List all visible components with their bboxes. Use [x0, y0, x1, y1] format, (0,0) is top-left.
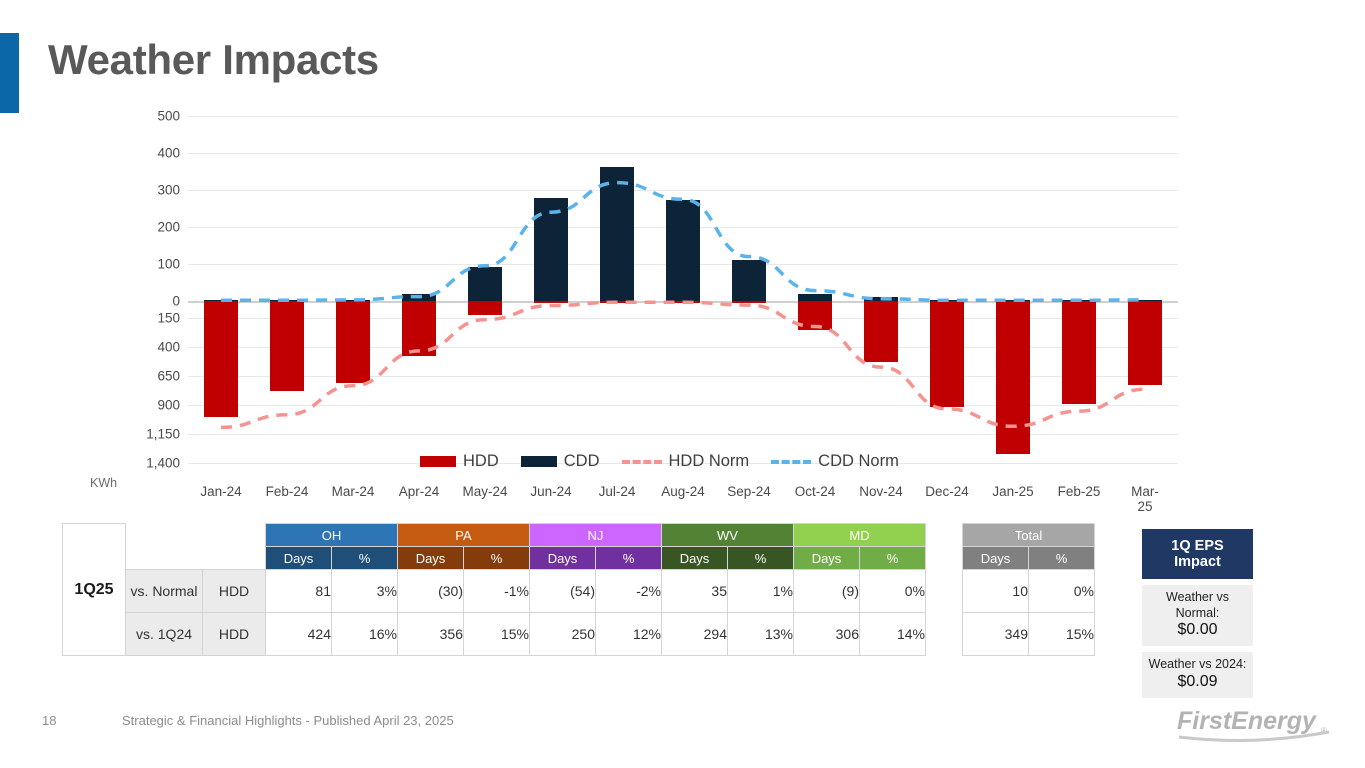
legend-label: CDD [564, 452, 600, 471]
table-cell-value: -2% [596, 570, 662, 613]
table-cell-value: 3% [332, 570, 398, 613]
legend-item-hdd-norm[interactable]: HDD Norm [622, 452, 750, 471]
slide: Weather Impacts 500400300200100015040065… [0, 0, 1365, 768]
legend-label: HDD [463, 452, 499, 471]
total-cell-value: 15% [1029, 613, 1095, 656]
table-cell-value: 16% [332, 613, 398, 656]
legend-item-hdd[interactable]: HDD [420, 452, 499, 471]
table-cell-value: 13% [728, 613, 794, 656]
y-axis-tick-label: 1,400 [90, 456, 180, 471]
table-subheader-pct: % [332, 547, 398, 570]
eps-item-normal: Weather vs Normal: $0.00 [1142, 585, 1253, 646]
total-cell-value: 0% [1029, 570, 1095, 613]
legend-label: HDD Norm [669, 452, 750, 471]
table-metric-label: HDD [203, 570, 266, 613]
y-axis-tick-label: 500 [90, 109, 180, 124]
table-subheader-pct: % [596, 547, 662, 570]
table-cell-value: 294 [662, 613, 728, 656]
chart-x-axis-labels: Jan-24Feb-24Mar-24Apr-24May-24Jun-24Jul-… [188, 484, 1178, 506]
x-axis-tick-label: Oct-24 [795, 484, 836, 499]
eps-label-normal: Weather vs Normal: [1145, 590, 1250, 621]
table-header-row-sub: Days%Days%Days%Days%Days% [63, 547, 926, 570]
x-axis-tick-label: Mar-25 [1129, 484, 1162, 514]
total-header-row: Total [963, 524, 1095, 547]
legend-swatch-icon [420, 456, 456, 467]
legend-item-cdd-norm[interactable]: CDD Norm [771, 452, 899, 471]
chart-legend: HDDCDDHDD NormCDD Norm [420, 452, 899, 471]
table-cell-value: 356 [398, 613, 464, 656]
y-axis-tick-label: 0 [90, 294, 180, 309]
y-axis-tick-label: 1,150 [90, 427, 180, 442]
table-metric-label: HDD [203, 613, 266, 656]
table-subheader-days: Days [266, 547, 332, 570]
table-subheader-days: Days [398, 547, 464, 570]
x-axis-tick-label: Dec-24 [925, 484, 969, 499]
total-group-header: Total [963, 524, 1095, 547]
eps-item-2024: Weather vs 2024: $0.09 [1142, 652, 1253, 698]
weather-data-table: 1Q25OHPANJWVMDDays%Days%Days%Days%Days%v… [62, 523, 926, 656]
legend-swatch-icon [622, 460, 662, 464]
table-cell-value: 306 [794, 613, 860, 656]
table-group-header-md: MD [794, 524, 926, 547]
eps-impact-box: 1Q EPS Impact Weather vs Normal: $0.00 W… [1142, 529, 1253, 698]
table-quarter-label: 1Q25 [63, 524, 126, 656]
table-subheader-pct: % [464, 547, 530, 570]
table-subheader-days: Days [662, 547, 728, 570]
table-group-header-pa: PA [398, 524, 530, 547]
x-axis-tick-label: Jan-24 [200, 484, 241, 499]
table-subheader-pct: % [860, 547, 926, 570]
chart-norm-lines [188, 108, 1178, 478]
x-axis-tick-label: Jun-24 [530, 484, 571, 499]
x-axis-tick-label: May-24 [462, 484, 507, 499]
x-axis-tick-label: Aug-24 [661, 484, 705, 499]
y-axis-tick-label: 400 [90, 146, 180, 161]
x-axis-tick-label: Apr-24 [399, 484, 440, 499]
chart-y-axis: 50040030020010001504006509001,1501,400 [90, 108, 180, 478]
y-axis-tick-label: 100 [90, 257, 180, 272]
y-axis-tick-label: 200 [90, 220, 180, 235]
y-axis-tick-label: 900 [90, 398, 180, 413]
total-cell-value: 10 [963, 570, 1029, 613]
table-group-header-nj: NJ [530, 524, 662, 547]
eps-value-normal: $0.00 [1145, 621, 1250, 639]
table-cell-value: 35 [662, 570, 728, 613]
x-axis-tick-label: Mar-24 [332, 484, 375, 499]
x-axis-tick-label: Jul-24 [599, 484, 636, 499]
table-group-header-oh: OH [266, 524, 398, 547]
x-axis-tick-label: Sep-24 [727, 484, 771, 499]
table-cell-value: 0% [860, 570, 926, 613]
total-cell-value: 349 [963, 613, 1029, 656]
table-compare-label: vs. Normal [126, 570, 203, 613]
table-cell-value: 1% [728, 570, 794, 613]
table-spacer-cell [203, 524, 266, 547]
table-cell-value: 14% [860, 613, 926, 656]
weather-total-table: TotalDays%100%34915% [962, 523, 1095, 656]
table-cell-value: 12% [596, 613, 662, 656]
chart-plot-area [188, 108, 1178, 478]
x-axis-tick-label: Feb-25 [1058, 484, 1101, 499]
x-axis-tick-label: Feb-24 [266, 484, 309, 499]
eps-label-2024: Weather vs 2024: [1145, 657, 1250, 673]
table-cell-value: 15% [464, 613, 530, 656]
x-axis-tick-label: Nov-24 [859, 484, 903, 499]
title-accent-bar [0, 33, 19, 113]
total-row: 100% [963, 570, 1095, 613]
legend-swatch-icon [771, 460, 811, 464]
y-axis-unit-label: KWh [90, 476, 117, 490]
table-row: vs. 1Q24HDD42416%35615%25012%29413%30614… [63, 613, 926, 656]
table-cell-value: (30) [398, 570, 464, 613]
eps-value-2024: $0.09 [1145, 673, 1250, 691]
total-subheader-pct: % [1029, 547, 1095, 570]
table-subheader-pct: % [728, 547, 794, 570]
legend-swatch-icon [521, 456, 557, 467]
eps-header: 1Q EPS Impact [1142, 529, 1253, 579]
x-axis-tick-label: Jan-25 [992, 484, 1033, 499]
total-subheader-days: Days [963, 547, 1029, 570]
table-cell-value: 250 [530, 613, 596, 656]
table-row: vs. NormalHDD813%(30)-1%(54)-2%351%(9)0% [63, 570, 926, 613]
table-cell-value: -1% [464, 570, 530, 613]
cdd-norm-line [221, 183, 1145, 301]
hdd-norm-line [221, 302, 1145, 427]
table-subheader-days: Days [530, 547, 596, 570]
firstenergy-logo: FirstEnergy ® [1175, 702, 1335, 746]
table-spacer-cell [126, 547, 203, 570]
footer-text: Strategic & Financial Highlights - Publi… [122, 713, 454, 728]
page-number: 18 [42, 713, 56, 728]
legend-item-cdd[interactable]: CDD [521, 452, 600, 471]
legend-label: CDD Norm [818, 452, 899, 471]
table-spacer-cell [126, 524, 203, 547]
y-axis-tick-label: 400 [90, 340, 180, 355]
total-subheader-row: Days% [963, 547, 1095, 570]
table-header-row-states: 1Q25OHPANJWVMD [63, 524, 926, 547]
table-cell-value: 81 [266, 570, 332, 613]
table-cell-value: 424 [266, 613, 332, 656]
page-title: Weather Impacts [48, 36, 379, 84]
y-axis-tick-label: 300 [90, 183, 180, 198]
table-group-header-wv: WV [662, 524, 794, 547]
table-spacer-cell [203, 547, 266, 570]
y-axis-tick-label: 150 [90, 311, 180, 326]
table-compare-label: vs. 1Q24 [126, 613, 203, 656]
table-subheader-days: Days [794, 547, 860, 570]
svg-text:FirstEnergy: FirstEnergy [1177, 707, 1317, 735]
table-cell-value: (9) [794, 570, 860, 613]
table-cell-value: (54) [530, 570, 596, 613]
total-row: 34915% [963, 613, 1095, 656]
y-axis-tick-label: 650 [90, 369, 180, 384]
weather-chart: 50040030020010001504006509001,1501,400 K… [90, 100, 1200, 500]
